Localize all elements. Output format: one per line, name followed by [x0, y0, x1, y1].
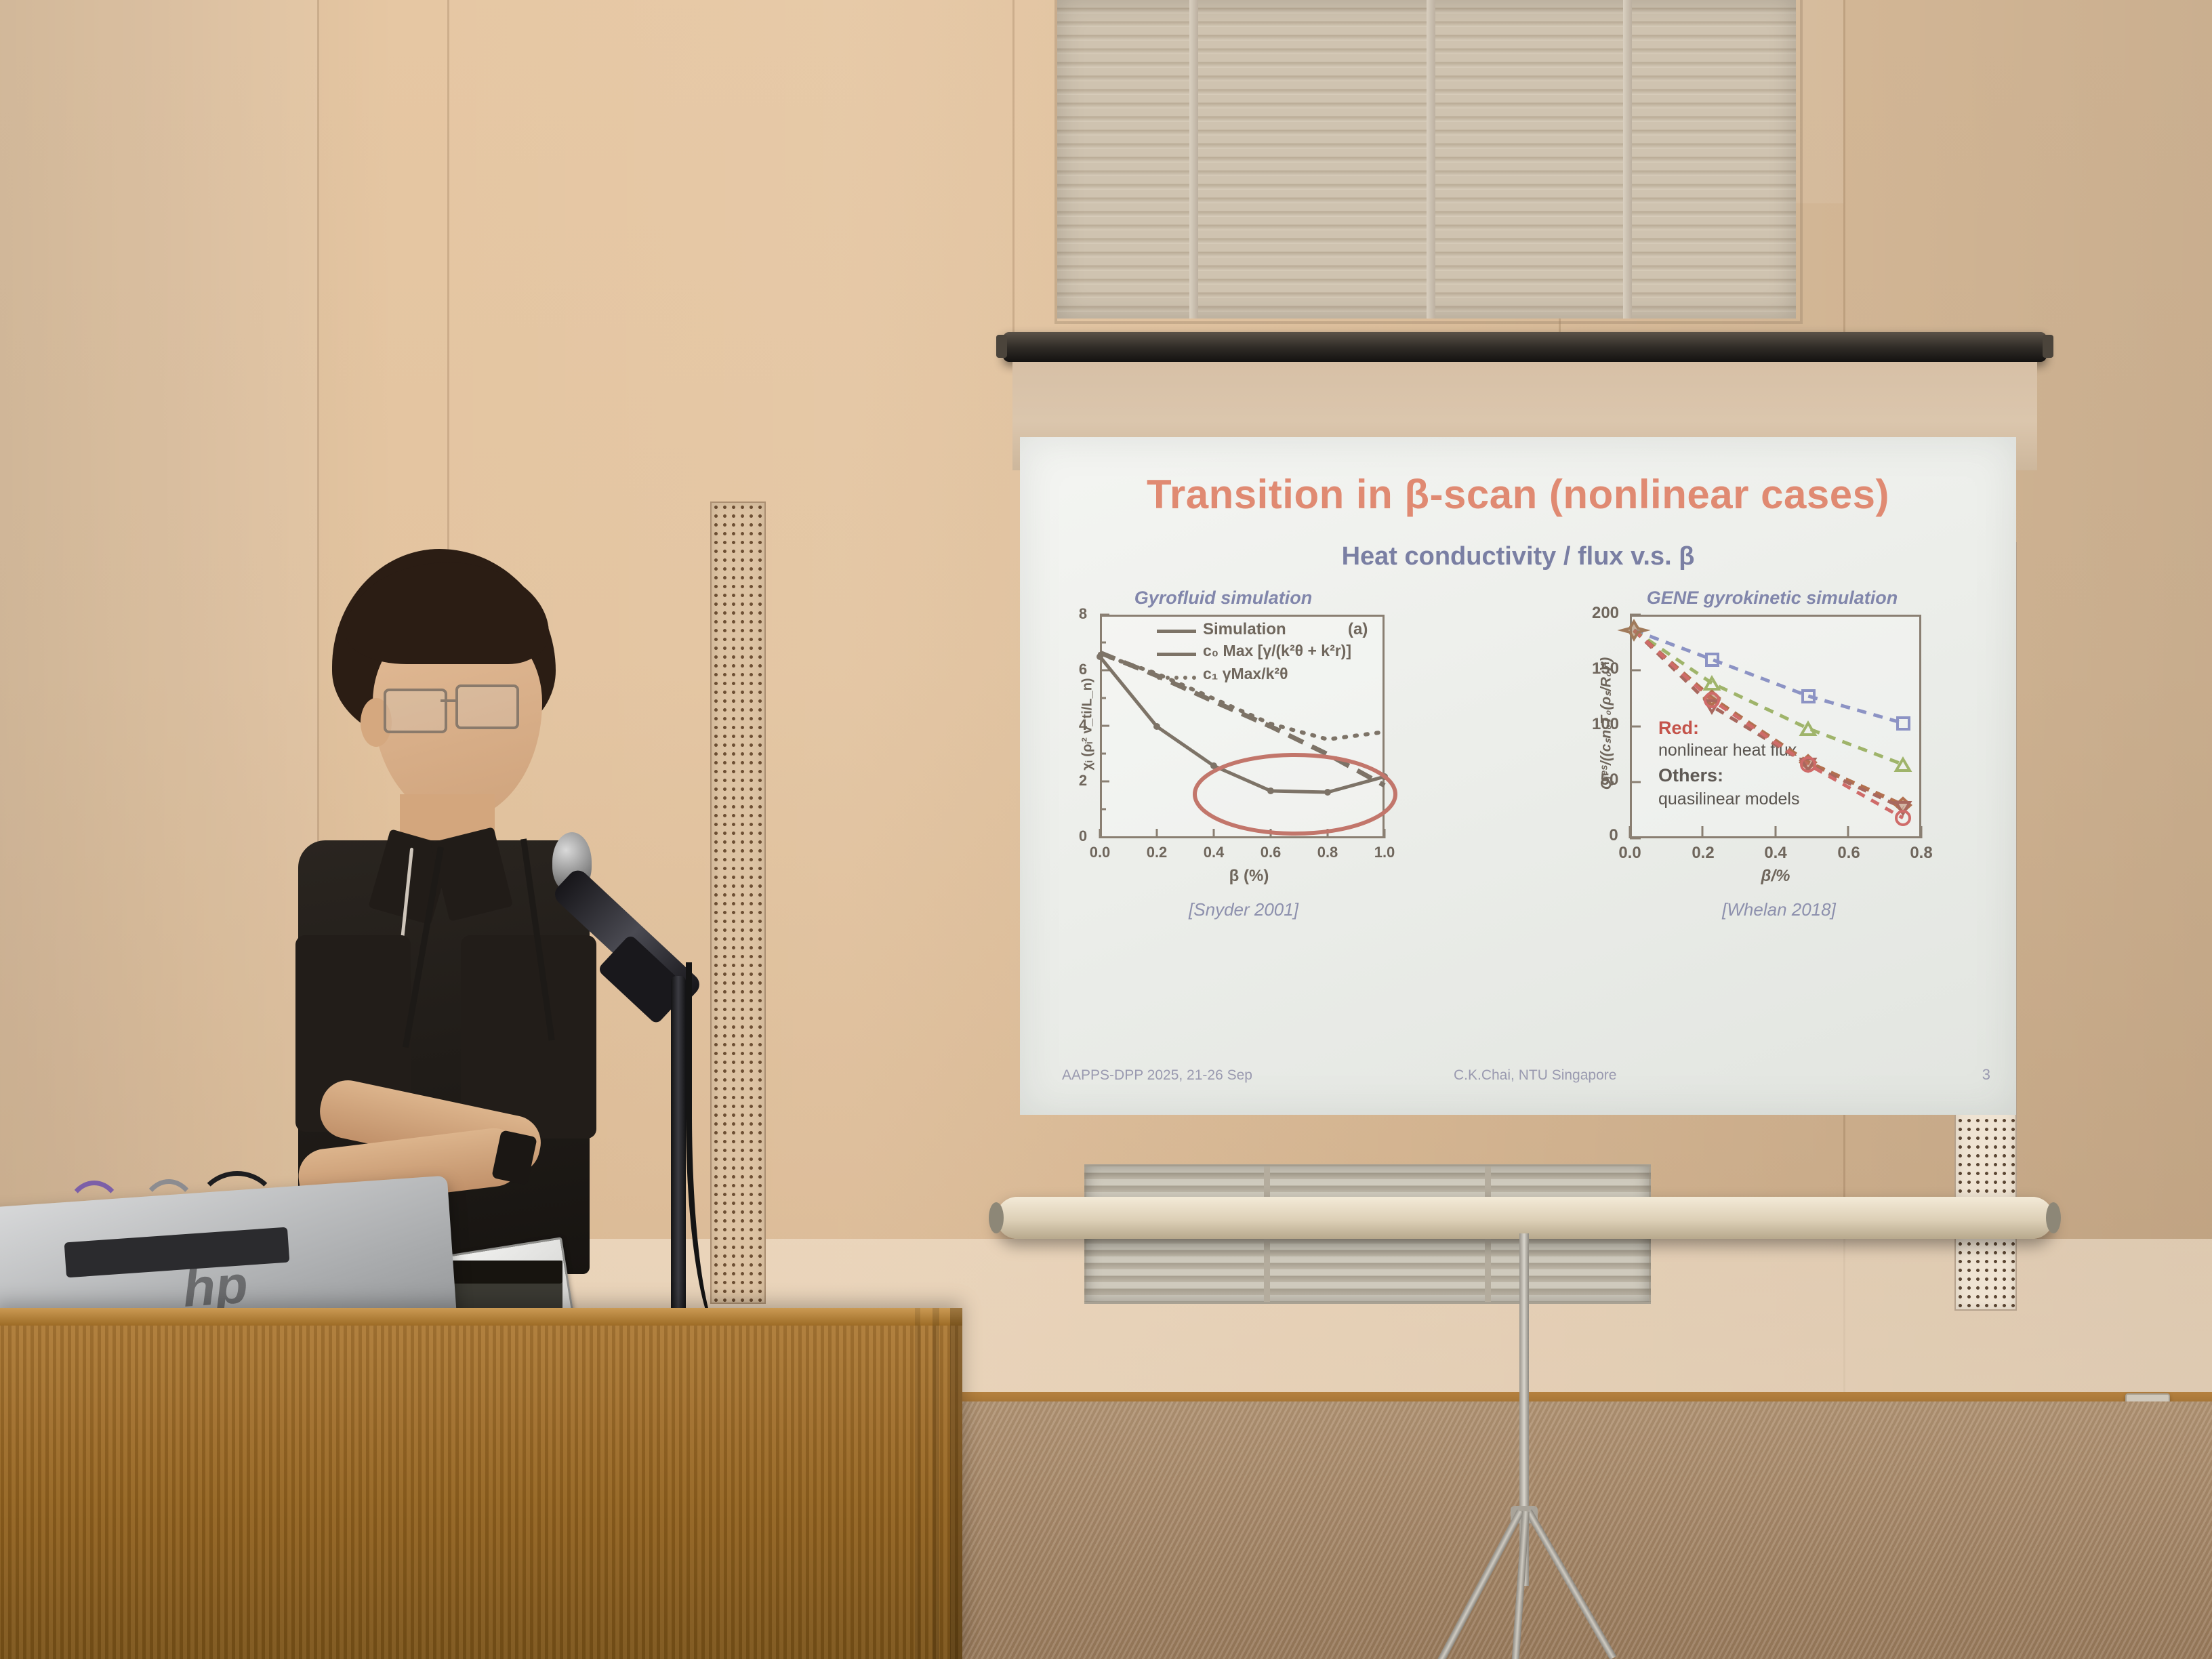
- gene-xtick-2: 0.4: [1757, 844, 1795, 863]
- left-chart-caption: Gyrofluid simulation: [1061, 588, 1386, 609]
- dock-cable-black: [195, 1171, 279, 1251]
- gene-ytick-0: 0: [1603, 826, 1624, 845]
- gyrofluid-xtick-1: 0.2: [1139, 844, 1174, 861]
- wall-seam-3: [1012, 0, 1015, 352]
- gyrofluid-xtick-3: 0.6: [1253, 844, 1288, 861]
- slide-content: Transition in β-scan (nonlinear cases) H…: [1020, 437, 2016, 1115]
- gene-chart: Qᵢᵉˢ/((cₛn₀T₀(ρₛ/R₀)²) 200 150 100 50 0 …: [1630, 615, 1921, 838]
- microphone-stand: [671, 976, 686, 1328]
- gene-xtick-3: 0.6: [1830, 844, 1868, 863]
- slide-subtitle: Heat conductivity / flux v.s. β: [1020, 542, 2016, 571]
- projected-slide-surface: Transition in β-scan (nonlinear cases) H…: [1020, 437, 2016, 1115]
- right-chart-caption: GENE gyrokinetic simulation: [1562, 588, 1982, 609]
- eyeglasses-bridge: [441, 699, 458, 702]
- gyrofluid-x-axis-label: β (%): [1202, 867, 1296, 886]
- left-citation: [Snyder 2001]: [1108, 899, 1379, 920]
- gene-ytick-200: 200: [1586, 604, 1624, 623]
- gyrofluid-ytick-8: 8: [1071, 605, 1094, 623]
- dock-cable-purple: [65, 1181, 123, 1251]
- podium-top-surface: [0, 1308, 962, 1326]
- podium: [0, 1308, 962, 1659]
- gene-xtick-1: 0.2: [1684, 844, 1722, 863]
- slide-page-number: 3: [1982, 1066, 1990, 1084]
- gyrofluid-ytick-2: 2: [1071, 772, 1094, 790]
- gyrofluid-xtick-2: 0.4: [1196, 844, 1231, 861]
- transition-highlight-ellipse: [1195, 755, 1395, 834]
- gyrofluid-ytick-0: 0: [1071, 827, 1094, 845]
- window-frame: [1054, 0, 1803, 324]
- screen-top-bar: [1003, 332, 2047, 362]
- gyrofluid-ytick-6: 6: [1071, 661, 1094, 678]
- gyrofluid-ytick-4: 4: [1071, 716, 1094, 734]
- projection-screen: Transition in β-scan (nonlinear cases) H…: [1003, 332, 2060, 1254]
- gyrofluid-chart: χᵢ (ρᵢ² v_ti/L_n) 8 6 4 2 0 0.0 0.2 0.4 …: [1100, 615, 1385, 838]
- right-citation: [Whelan 2018]: [1643, 899, 1914, 920]
- screen-bottom-roller[interactable]: [996, 1197, 2053, 1239]
- gene-ytick-100: 100: [1586, 715, 1624, 734]
- gene-xtick-4: 0.8: [1902, 844, 1940, 863]
- gene-ytick-150: 150: [1586, 659, 1624, 678]
- dock-cable-grey: [140, 1179, 198, 1251]
- podium-right-edge-2: [933, 1308, 939, 1659]
- gene-ytick-50: 50: [1595, 771, 1624, 790]
- gene-plot-svg: [1630, 615, 1921, 838]
- slide-footer-left: AAPPS-DPP 2025, 21-26 Sep: [1062, 1067, 1252, 1084]
- gyrofluid-xtick-5: 1.0: [1367, 844, 1402, 861]
- slide-footer-center: C.K.Chai, NTU Singapore: [1454, 1067, 1616, 1084]
- podium-right-edge-3: [915, 1308, 920, 1659]
- gyrofluid-xtick-0: 0.0: [1082, 844, 1118, 861]
- podium-right-edge: [950, 1308, 962, 1659]
- photo-scene: Transition in β-scan (nonlinear cases) H…: [0, 0, 2212, 1659]
- eyeglasses-right-lens: [455, 684, 519, 729]
- slide-title: Transition in β-scan (nonlinear cases): [1020, 471, 2016, 518]
- gyrofluid-plot-svg: [1100, 615, 1385, 838]
- gene-xtick-0: 0.0: [1611, 844, 1649, 863]
- gene-x-axis-label: β/%: [1738, 867, 1813, 886]
- eyeglasses-left-lens: [384, 689, 447, 733]
- gyrofluid-xtick-4: 0.8: [1310, 844, 1345, 861]
